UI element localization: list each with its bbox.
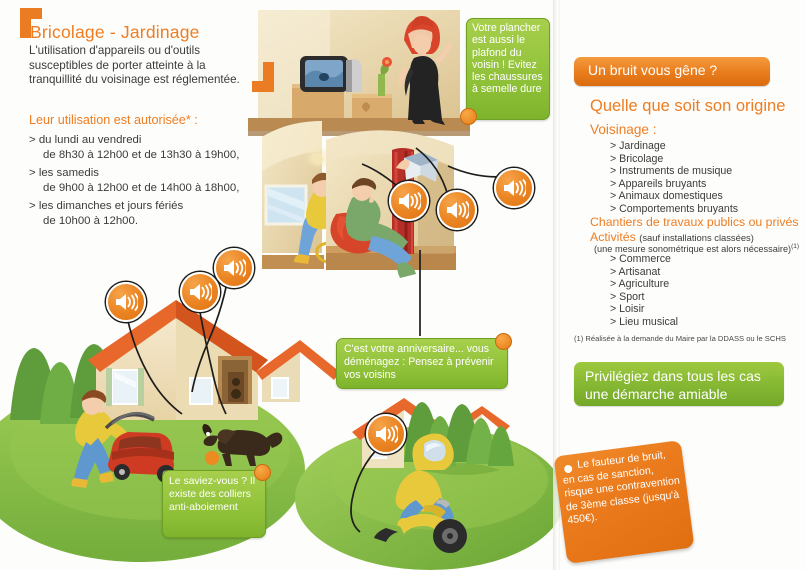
speaker-icon [366, 414, 406, 454]
list-item: > Agriculture [610, 278, 800, 291]
list-item: > Commerce [610, 253, 800, 266]
schedule-item: > les samedis de 9h00 à 12h00 et de 14h0… [29, 166, 269, 196]
heading-activities-note: (sauf installations classées) [639, 232, 754, 243]
list-item: > Lieu musical [610, 316, 800, 329]
heading-origin: Quelle que soit son origine [590, 97, 785, 116]
neighbourhood-list: > Jardinage > Bricolage > Instruments de… [610, 140, 800, 216]
banner-noise-question-label: Un bruit vous gêne ? [588, 62, 717, 78]
footnote: (1) Réalisée à la demande du Maire par l… [574, 334, 804, 343]
footnote-marker: (1) [791, 243, 799, 250]
callout-knob-icon [460, 108, 477, 125]
speaker-icon [494, 168, 534, 208]
callout-did-you-know-text: Le saviez-vous ? Il existe des colliers … [169, 475, 263, 515]
schedule-item: > du lundi au vendredi de 8h30 à 12h00 e… [29, 133, 269, 163]
speaker-icon [214, 248, 254, 288]
list-item: > Bricolage [610, 153, 800, 166]
list-item: > Comportements bruyants [610, 203, 800, 216]
scene-scooter [295, 398, 560, 570]
schedule-time: de 9h00 à 12h00 et de 14h00 à 18h00, [29, 181, 269, 196]
list-item: > Appareils bruyants [610, 178, 800, 191]
schedule-day: > les dimanches et jours fériés [29, 199, 269, 214]
sticker-penalty-text: Le fauteur de bruit, en cas de sanction,… [561, 448, 686, 529]
list-item: > Jardinage [610, 140, 800, 153]
heading-activities-label: Activités [590, 230, 636, 244]
speaker-icon [106, 282, 146, 322]
activities-list: > Commerce > Artisanat > Agriculture > S… [610, 253, 800, 329]
heading-activities: Activités (sauf installations classées) [590, 230, 754, 244]
callout-floor-noise: Votre plancher est aussi le plafond du v… [466, 18, 550, 120]
list-item: > Sport [610, 291, 800, 304]
schedule-list: > du lundi au vendredi de 8h30 à 12h00 e… [29, 133, 269, 232]
banner-amicable-resolution: Privilégiez dans tous les cas une démarc… [574, 362, 784, 406]
permission-heading: Leur utilisation est autorisée* : [29, 113, 198, 127]
callout-anniversary-text: C'est votre anniversaire... vous déménag… [344, 343, 502, 383]
speaker-icon [437, 190, 477, 230]
list-item: > Loisir [610, 303, 800, 316]
callout-knob-icon [254, 464, 271, 481]
heading-worksites: Chantiers de travaux publics ou privés [590, 215, 798, 229]
schedule-time: de 10h00 à 12h00. [29, 214, 269, 229]
callout-anniversary: C'est votre anniversaire... vous déménag… [336, 338, 508, 389]
callout-knob-icon [495, 333, 512, 350]
leaflet-page: Votre plancher est aussi le plafond du v… [0, 0, 805, 570]
banner-amicable-resolution-label: Privilégiez dans tous les cas une démarc… [585, 367, 777, 403]
list-item: > Artisanat [610, 266, 800, 279]
window-left [266, 186, 306, 224]
callout-floor-text: Votre plancher est aussi le plafond du v… [472, 22, 546, 96]
banner-noise-question: Un bruit vous gêne ? [574, 57, 770, 86]
speaker-icon [180, 272, 220, 312]
heading-neighbourhood: Voisinage : [590, 122, 657, 137]
page-title: Bricolage - Jardinage [30, 22, 200, 43]
intro-paragraph: L'utilisation d'appareils ou d'outils su… [29, 44, 261, 88]
sticker-penalty-notice: Le fauteur de bruit, en cas de sanction,… [553, 440, 694, 564]
list-item: > Instruments de musique [610, 165, 800, 178]
scene-upper-apartment [248, 10, 470, 136]
schedule-day: > du lundi au vendredi [29, 133, 269, 148]
schedule-item: > les dimanches et jours fériés de 10h00… [29, 199, 269, 229]
speaker-glyph [114, 292, 138, 312]
list-item: > Animaux domestiques [610, 190, 800, 203]
callout-did-you-know: Le saviez-vous ? Il existe des colliers … [162, 470, 266, 538]
schedule-day: > les samedis [29, 166, 269, 181]
speaker-icon [389, 181, 429, 221]
schedule-time: de 8h30 à 12h00 et de 13h30 à 19h00, [29, 148, 269, 163]
